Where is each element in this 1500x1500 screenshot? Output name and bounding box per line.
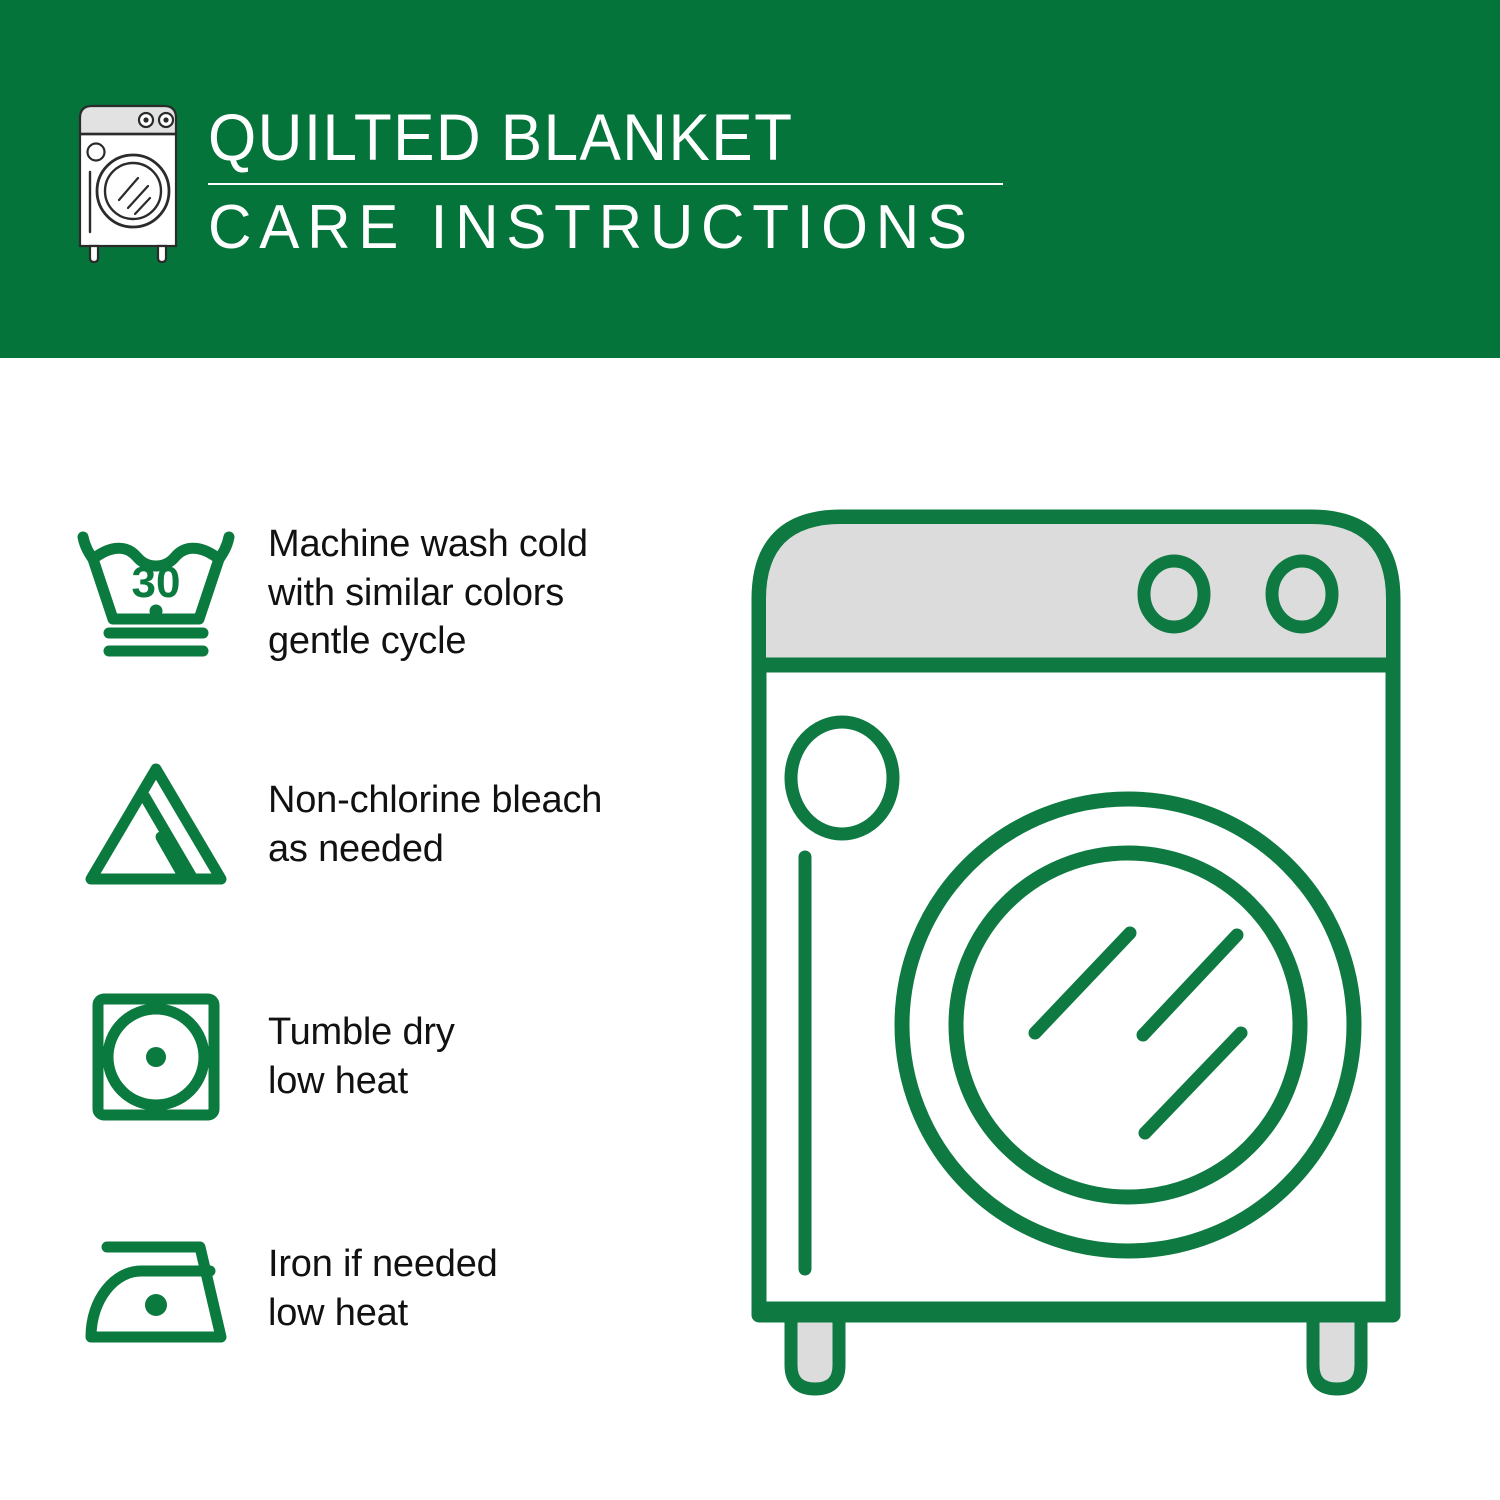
non-chlorine-bleach-triangle-icon [66, 755, 246, 895]
instruction-line: low heat [268, 1289, 706, 1338]
title-divider [208, 183, 1003, 185]
page-subtitle: CARE INSTRUCTIONS [208, 195, 1036, 260]
instruction-line: Iron if needed [268, 1240, 706, 1289]
washing-machine-icon [62, 96, 194, 264]
list-item: Tumble dry low heat [66, 972, 706, 1142]
instruction-line: low heat [268, 1057, 706, 1106]
wash-tub-30-gentle-icon: 30 [66, 523, 246, 663]
instruction-text: Iron if needed low heat [246, 1240, 706, 1337]
page-title: QUILTED BLANKET [208, 104, 1011, 171]
care-instruction-list: 30 Machine wash cold with similar colors… [66, 508, 706, 1374]
instruction-line: gentle cycle [268, 617, 706, 666]
list-item: 30 Machine wash cold with similar colors… [66, 508, 706, 678]
instruction-text: Tumble dry low heat [246, 1008, 706, 1105]
tumble-dry-low-icon [66, 987, 246, 1127]
instruction-line: Non-chlorine bleach [268, 776, 706, 825]
iron-low-heat-icon [66, 1219, 246, 1359]
instruction-text: Non-chlorine bleach as needed [246, 776, 706, 873]
instruction-line: Tumble dry [268, 1008, 706, 1057]
wash-temperature-label: 30 [132, 558, 181, 607]
list-item: Iron if needed low heat [66, 1204, 706, 1374]
instruction-line: Machine wash cold [268, 520, 706, 569]
instruction-text: Machine wash cold with similar colors ge… [246, 520, 706, 666]
front-load-washing-machine-illustration [745, 503, 1455, 1433]
header-content: QUILTED BLANKET CARE INSTRUCTIONS [62, 96, 1062, 281]
instruction-line: with similar colors [268, 569, 706, 618]
header-banner: QUILTED BLANKET CARE INSTRUCTIONS [0, 0, 1500, 358]
header-titles: QUILTED BLANKET CARE INSTRUCTIONS [208, 96, 1062, 260]
content-area: 30 Machine wash cold with similar colors… [0, 358, 1500, 1500]
instruction-line: as needed [268, 825, 706, 874]
list-item: Non-chlorine bleach as needed [66, 740, 706, 910]
